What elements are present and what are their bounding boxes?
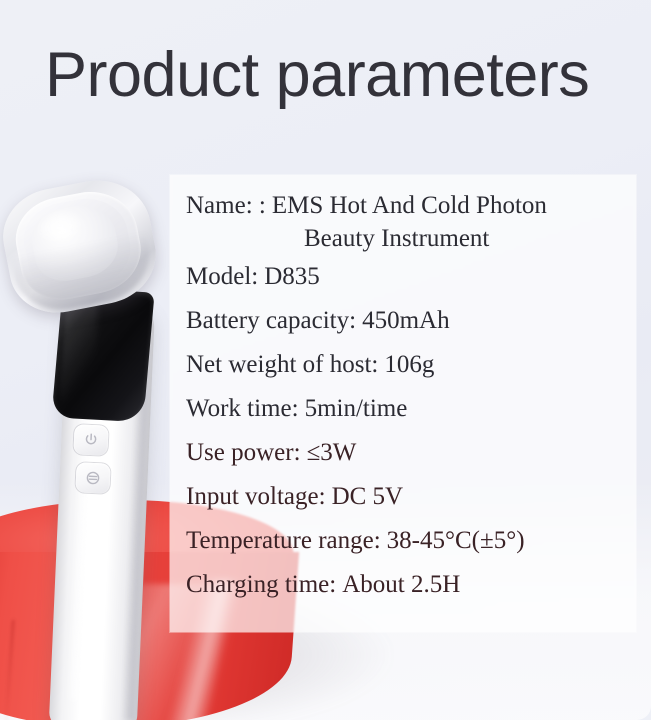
spec-row-input-voltage: Input voltage:DC 5V [186,475,636,519]
spec-value-name-line2: Beauty Instrument [186,222,636,255]
spec-row-name: Name: :EMS Hot And Cold Photon Beauty In… [186,189,636,255]
spec-label-work-time: Work time: [186,395,299,422]
mode-button[interactable] [75,462,110,493]
spec-value-name: EMS Hot And Cold Photon [266,192,547,219]
mode-lines-icon [85,470,102,487]
spec-row-battery-capacity: Battery capacity:450mAh [186,299,636,343]
spec-label-input-voltage: Input voltage: [186,483,326,510]
page-title: Product parameters [45,44,589,107]
spec-label-model: Model: [186,263,258,290]
spec-row-temperature-range: Temperature range:38-45°C(±5°) [186,519,636,563]
spec-label-name: Name: : [186,192,266,219]
spec-row-net-weight: Net weight of host:106g [186,343,636,387]
spec-label-charging-time: Charging time: [186,571,336,598]
power-icon [83,432,100,449]
spec-label-use-power: Use power: [186,439,301,466]
spec-row-charging-time: Charging time:About 2.5H [186,563,636,607]
spec-label-net-weight: Net weight of host: [186,351,378,378]
power-button[interactable] [73,424,108,455]
spec-value-net-weight: 106g [378,351,434,378]
spec-value-temperature-range: 38-45°C(±5°) [381,527,525,554]
spec-list: Name: :EMS Hot And Cold Photon Beauty In… [170,175,636,632]
product-parameters-image: Product parameters [0,0,651,720]
spec-value-work-time: 5min/time [299,395,408,422]
spec-label-battery-capacity: Battery capacity: [186,307,356,334]
spec-row-work-time: Work time:5min/time [186,387,636,431]
spec-value-battery-capacity: 450mAh [356,307,450,334]
spec-value-input-voltage: DC 5V [326,483,404,510]
spec-row-model: Model:D835 [186,255,636,299]
spec-value-model: D835 [258,263,320,290]
spec-label-temperature-range: Temperature range: [186,527,381,554]
spec-row-use-power: Use power:≤3W [186,431,636,475]
spec-value-use-power: ≤3W [301,439,357,466]
spec-value-charging-time: About 2.5H [336,571,460,598]
